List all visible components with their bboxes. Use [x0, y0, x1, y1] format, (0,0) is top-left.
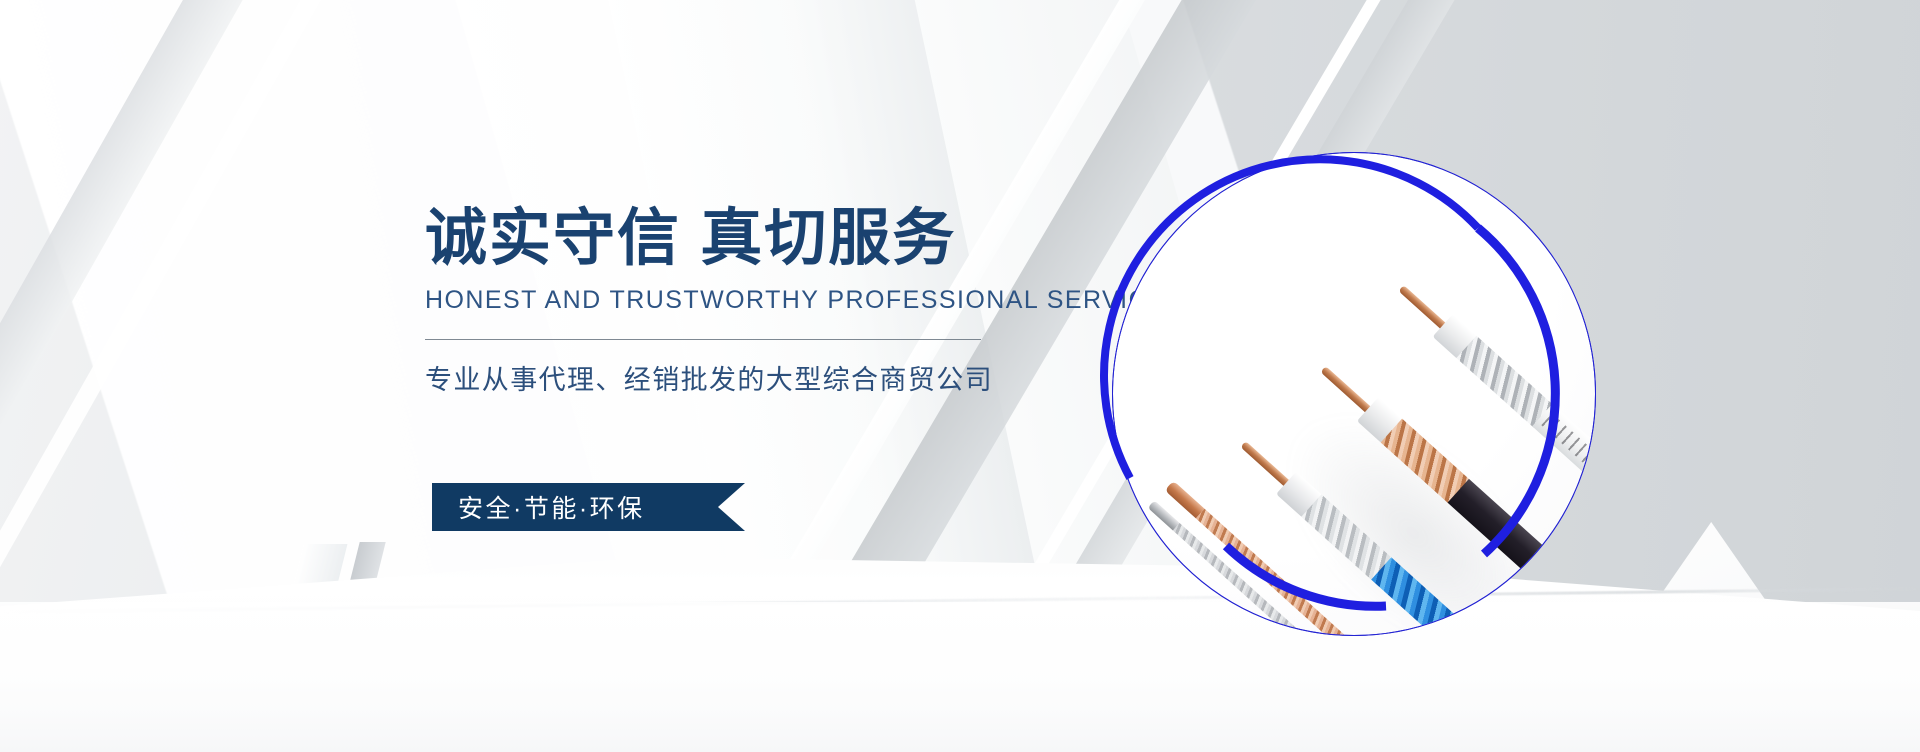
accent-arc-right	[1478, 228, 1555, 554]
hero-divider-rule	[425, 339, 981, 340]
feature-ribbon-label: 安全·节能·环保	[432, 483, 745, 531]
medallion-accent-arcs	[1086, 126, 1622, 662]
hero-headline: 诚实守信 真切服务	[425, 206, 1065, 272]
hero-copy: 诚实守信 真切服务 HONEST AND TRUSTWORTHY PROFESS…	[425, 206, 1065, 397]
background-rib-5	[0, 0, 375, 752]
accent-arc-bottom	[1226, 546, 1386, 606]
background-floor-sheen	[0, 602, 1920, 752]
accent-arc-upper-left	[1104, 159, 1478, 478]
hero-subtitle-english: HONEST AND TRUSTWORTHY PROFESSIONAL SERV…	[425, 286, 1065, 315]
background-fin-foot-1	[289, 544, 348, 604]
background-floor	[0, 517, 1920, 752]
background-fin-foot-2	[344, 542, 385, 604]
hero-banner: 诚实守信 真切服务 HONEST AND TRUSTWORTHY PROFESS…	[0, 0, 1920, 752]
hero-subtitle-chinese: 专业从事代理、经销批发的大型综合商贸公司	[425, 358, 1065, 397]
background-rib-4	[0, 0, 83, 752]
product-medallion	[1112, 152, 1596, 636]
background-rib-6	[0, 0, 486, 752]
background-floor-line	[0, 587, 1920, 613]
